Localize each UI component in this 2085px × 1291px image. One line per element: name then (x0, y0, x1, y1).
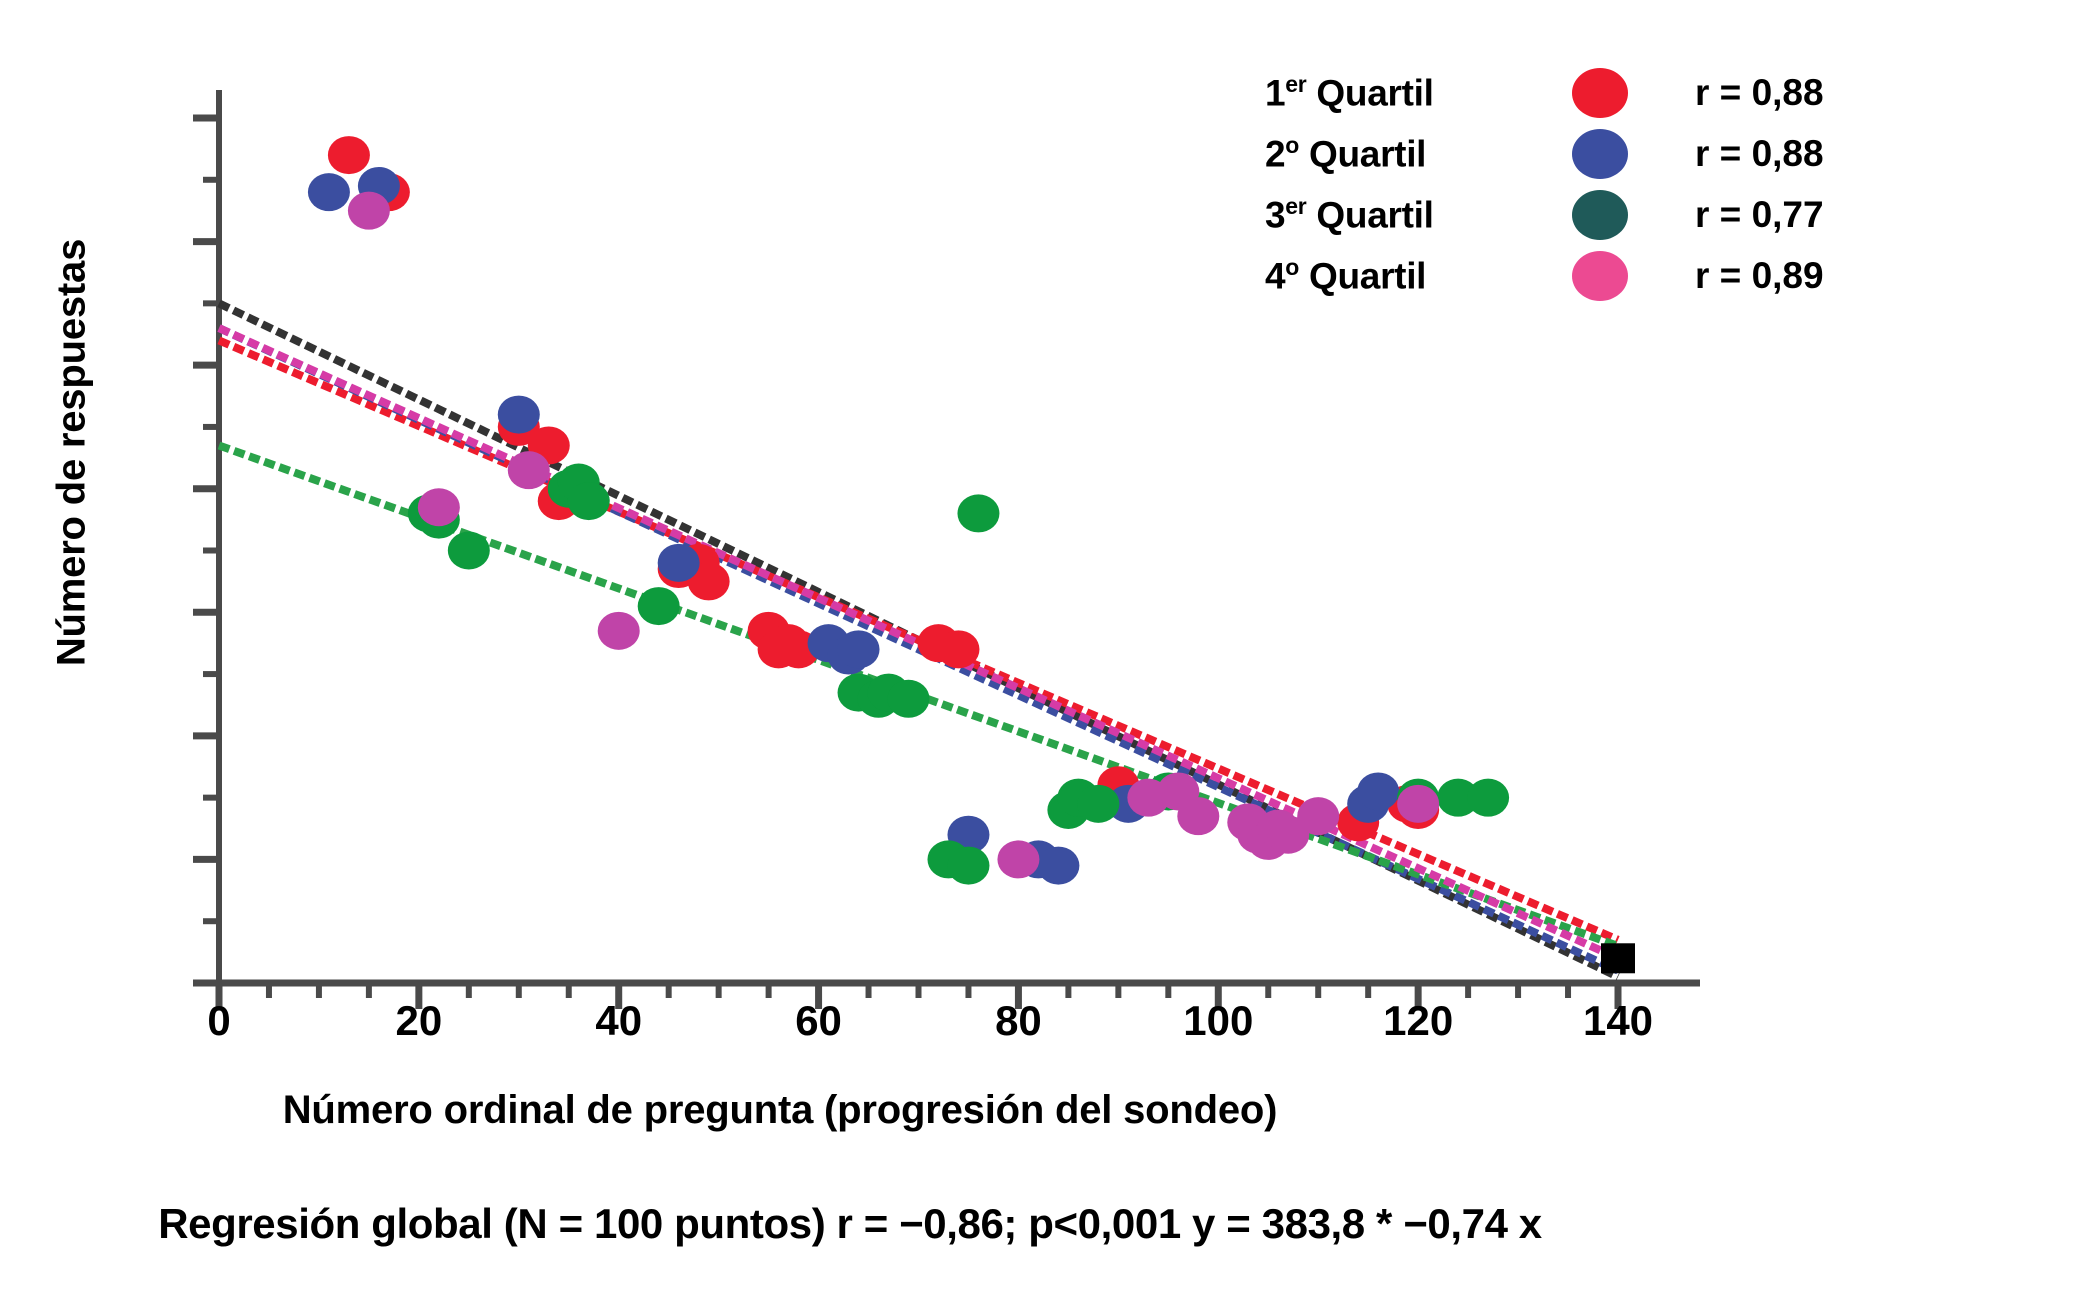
legend-swatch-cell (1505, 129, 1695, 179)
data-point (658, 544, 700, 582)
data-point (1177, 797, 1219, 835)
data-point (638, 587, 680, 625)
data-point (997, 840, 1039, 878)
legend-label-quartil-3: 3er Quartil (1265, 193, 1505, 236)
data-point (568, 482, 610, 520)
y-axis-title: Número de respuestas (50, 153, 95, 753)
legend-color-dot-icon-quartil-2 (1572, 129, 1628, 179)
data-point (308, 173, 350, 211)
legend-label-quartil-1: 1er Quartil (1265, 71, 1505, 114)
data-point (348, 192, 390, 230)
legend-color-dot-icon-quartil-3 (1572, 190, 1628, 240)
data-point (1037, 847, 1079, 885)
x-axis-tick-labels: 020406080100120140 (0, 1000, 2085, 1060)
legend-swatch-cell (1505, 190, 1695, 240)
legend-swatch-cell (1505, 68, 1695, 118)
legend-row-quartil-2: 2o Quartilr = 0,88 (1265, 123, 1905, 184)
legend-row-quartil-1: 1er Quartilr = 0,88 (1265, 62, 1905, 123)
data-point (1357, 772, 1399, 810)
chart-figure: 280300320340360380400420 020406080100120… (0, 0, 2085, 1291)
data-point (508, 451, 550, 489)
regression-caption: Regresión global (N = 100 puntos) r = −0… (0, 1200, 1700, 1248)
legend-correlation-quartil-4: r = 0,89 (1695, 255, 1824, 297)
x-tick-label: 60 (795, 1000, 842, 1042)
data-point (328, 136, 370, 174)
legend-color-dot-icon-quartil-1 (1572, 68, 1628, 118)
x-tick-label: 120 (1383, 1000, 1453, 1042)
data-point (888, 680, 930, 718)
legend-correlation-quartil-3: r = 0,77 (1695, 194, 1824, 236)
endpoint-square-marker (1601, 943, 1635, 973)
data-point (957, 494, 999, 532)
legend-row-quartil-3: 3er Quartilr = 0,77 (1265, 184, 1905, 245)
data-point (1077, 785, 1119, 823)
legend-correlation-quartil-2: r = 0,88 (1695, 133, 1824, 175)
legend-color-dot-icon-quartil-4 (1572, 251, 1628, 301)
legend-label-quartil-2: 2o Quartil (1265, 132, 1505, 175)
legend-label-quartil-4: 4o Quartil (1265, 254, 1505, 297)
x-tick-label: 20 (395, 1000, 442, 1042)
legend-swatch-cell (1505, 251, 1695, 301)
legend-row-quartil-4: 4o Quartilr = 0,89 (1265, 245, 1905, 306)
data-point (1397, 785, 1439, 823)
data-point (947, 847, 989, 885)
data-point (937, 630, 979, 668)
x-tick-label: 80 (995, 1000, 1042, 1042)
x-tick-label: 100 (1183, 1000, 1253, 1042)
legend: 1er Quartilr = 0,882o Quartilr = 0,883er… (1265, 62, 1905, 306)
data-point (448, 532, 490, 570)
data-point (1467, 779, 1509, 817)
x-tick-label: 40 (595, 1000, 642, 1042)
data-point (1297, 797, 1339, 835)
data-point (598, 612, 640, 650)
x-tick-label: 0 (207, 1000, 230, 1042)
x-tick-label: 140 (1583, 1000, 1653, 1042)
data-point (838, 630, 880, 668)
data-point (498, 396, 540, 434)
data-point (418, 488, 460, 526)
legend-correlation-quartil-1: r = 0,88 (1695, 72, 1824, 114)
x-axis-title: Número ordinal de pregunta (progresión d… (0, 1088, 1560, 1133)
